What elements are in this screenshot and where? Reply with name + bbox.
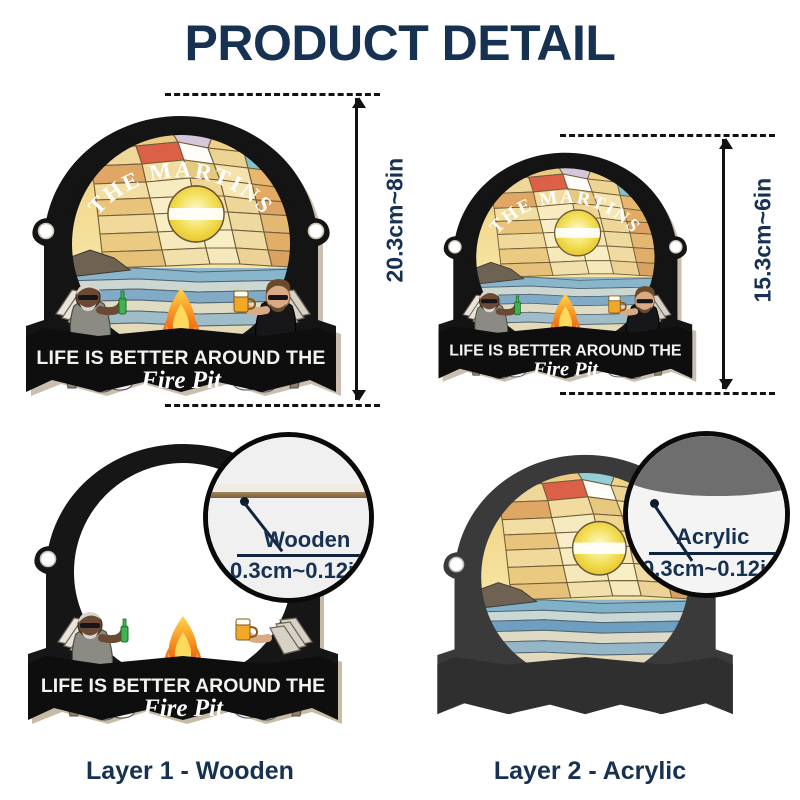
wooden-edge-cross-section xyxy=(203,491,374,498)
magnifier-wooden: Wooden 0.3cm~0.12in xyxy=(203,432,374,603)
layer-wooden-banner: LIFE IS BETTER AROUND THE Fire Pit xyxy=(28,656,338,722)
magnifier-acrylic-rule xyxy=(649,552,776,555)
banner-line-1: LIFE IS BETTER AROUND THE xyxy=(36,347,325,369)
ornament-small: THE MARTINS LIFE IS BETTER AROUND THE Fi… xyxy=(432,133,702,395)
acrylic-surface-cross-section xyxy=(623,431,790,496)
ornament-small-graphic: THE MARTINS LIFE IS BETTER AROUND THE Fi… xyxy=(432,133,702,395)
banner-line-2: Fire Pit xyxy=(140,367,222,394)
product-detail-page: PRODUCT DETAIL xyxy=(0,0,800,800)
dimension-label-large: 20.3cm~8in xyxy=(382,173,409,283)
page-title: PRODUCT DETAIL xyxy=(0,14,800,72)
ornament-large-graphic: THE MARTINS LIFE IS BETTER AROUND THE Fi… xyxy=(18,92,348,412)
layer-wooden-banner-line-2: Fire Pit xyxy=(142,695,224,722)
guide-line-small-top xyxy=(560,134,775,137)
layer-acrylic-banner xyxy=(437,657,732,714)
guide-line-large-bottom xyxy=(165,404,380,407)
dimension-arrow-small xyxy=(722,139,725,389)
ornament-banner-small: LIFE IS BETTER AROUND THE Fire Pit xyxy=(439,326,693,380)
ornament-large: THE MARTINS LIFE IS BETTER AROUND THE Fi… xyxy=(18,92,348,412)
dimension-arrow-large xyxy=(355,98,358,400)
banner-line-2-small: Fire Pit xyxy=(532,358,600,380)
magnifier-wooden-material: Wooden xyxy=(264,527,350,553)
banner-line-1-small: LIFE IS BETTER AROUND THE xyxy=(449,343,681,360)
guide-line-large-top xyxy=(165,93,380,96)
guide-line-small-bottom xyxy=(560,392,775,395)
magnifier-acrylic-material: Acrylic xyxy=(676,524,749,550)
layer-2-caption: Layer 2 - Acrylic xyxy=(440,757,740,786)
layer-wooden-banner-line-1: LIFE IS BETTER AROUND THE xyxy=(41,675,325,697)
magnifier-acrylic-thickness: 0.3cm~0.12in xyxy=(642,556,780,582)
magnifier-acrylic: Acrylic 0.3cm~0.12in xyxy=(623,431,790,598)
magnifier-wooden-rule xyxy=(237,554,364,557)
layer-1-caption: Layer 1 - Wooden xyxy=(40,757,340,786)
dimension-label-small: 15.3cm~6in xyxy=(750,193,777,303)
magnifier-wooden-thickness: 0.3cm~0.12in xyxy=(230,558,368,584)
ornament-banner: LIFE IS BETTER AROUND THE Fire Pit xyxy=(26,328,336,394)
